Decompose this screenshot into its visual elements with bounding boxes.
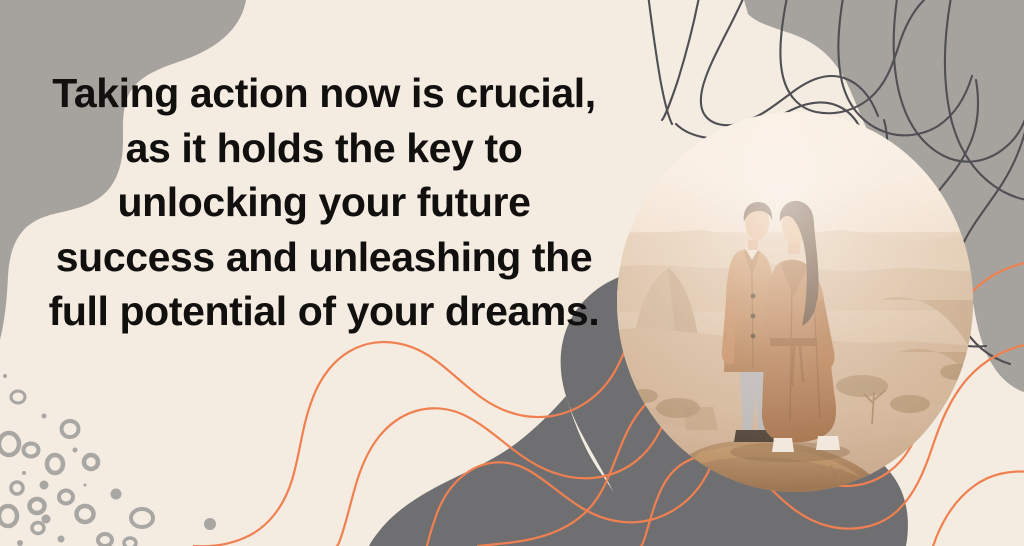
poster-canvas: Taking action now is crucial, as it hold… xyxy=(0,0,1024,546)
photo-warm-overlay xyxy=(612,108,984,500)
quote-block: Taking action now is crucial, as it hold… xyxy=(34,66,614,339)
quote-text: Taking action now is crucial, as it hold… xyxy=(34,66,614,339)
photo-content xyxy=(612,108,984,500)
